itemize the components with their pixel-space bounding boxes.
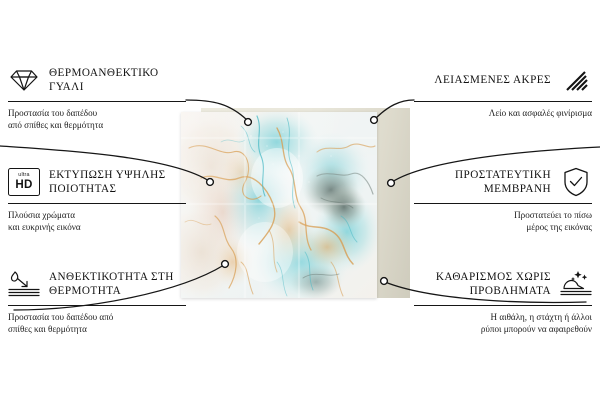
feature-header: ΛΕΙΑΣΜΕΝΕΣ ΑΚΡΕΣ [414,64,592,96]
feature-header: ΘΕΡΜΟΑΝΘΕΚΤΙΚΟ ΓΥΑΛΙ [8,64,186,96]
feature-heat-durability: ΑΝΘΕΚΤΙΚΟΤΗΤΑ ΣΤΗ ΘΕΡΜΟΤΗΤΑ Προστασία το… [8,268,186,335]
feature-title: ΚΑΘΑΡΙΣΜΟΣ ΧΩΡΙΣ ΠΡΟΒΛΗΜΑΤΑ [414,270,551,299]
product-image [181,110,410,300]
feature-header: ΠΡΟΣΤΑΤΕΥΤΙΚΗ ΜΕΜΒΡΑΝΗ [414,166,592,198]
feature-divider [414,101,592,102]
polished-edges-icon [560,65,592,95]
feature-description: Η αιθάλη, η στάχτη ή άλλοιρύποι μπορούν … [414,311,592,335]
feature-description: Πλούσια χρώματακαι ευκρινής εικόνα [8,209,186,233]
feature-divider [8,203,186,204]
feature-high-quality-print: ultra HD ΕΚΤΥΠΩΣΗ ΥΨΗΛΗΣ ΠΟΙΟΤΗΤΑΣ Πλούσ… [8,166,186,233]
diamond-icon [8,65,40,95]
feature-title: ΛΕΙΑΣΜΕΝΕΣ ΑΚΡΕΣ [414,73,551,88]
feature-title: ΘΕΡΜΟΑΝΘΕΚΤΙΚΟ ΓΥΑΛΙ [49,66,186,95]
feature-divider [8,305,186,306]
feature-divider [414,203,592,204]
feature-description: Προστασία του δαπέδου απόσπίθες και θερμ… [8,311,186,335]
feature-protective-membrane: ΠΡΟΣΤΑΤΕΥΤΙΚΗ ΜΕΜΒΡΑΝΗ Προστατεύει το πί… [414,166,592,233]
glass-panel-artwork [181,112,377,298]
feature-header: ΚΑΘΑΡΙΣΜΟΣ ΧΩΡΙΣ ΠΡΟΒΛΗΜΑΤΑ [414,268,592,300]
feature-polished-edges: ΛΕΙΑΣΜΕΝΕΣ ΑΚΡΕΣ Λείο και ασφαλές φινίρι… [414,64,592,119]
feature-easy-cleaning: ΚΑΘΑΡΙΣΜΟΣ ΧΩΡΙΣ ΠΡΟΒΛΗΜΑΤΑ Η αιθάλη, η … [414,268,592,335]
shield-check-icon [560,167,592,197]
feature-description: Προστατεύει το πίσωμέρος της εικόνας [414,209,592,233]
infographic-canvas: ΘΕΡΜΟΑΝΘΕΚΤΙΚΟ ΓΥΑΛΙ Προστασία του δαπέδ… [0,0,600,400]
feature-divider [414,305,592,306]
feature-description: Λείο και ασφαλές φινίρισμα [414,107,592,119]
marble-ink-artwork [181,112,377,298]
flame-deflect-icon [8,269,40,299]
feature-divider [8,101,186,102]
sparkle-wipe-icon [560,269,592,299]
feature-heat-resistant-glass: ΘΕΡΜΟΑΝΘΕΚΤΙΚΟ ΓΥΑΛΙ Προστασία του δαπέδ… [8,64,186,131]
ultra-hd-icon: ultra HD [8,167,40,197]
feature-header: ΑΝΘΕΚΤΙΚΟΤΗΤΑ ΣΤΗ ΘΕΡΜΟΤΗΤΑ [8,268,186,300]
feature-title: ΠΡΟΣΤΑΤΕΥΤΙΚΗ ΜΕΜΒΡΑΝΗ [414,168,551,197]
feature-description: Προστασία του δαπέδουαπό σπίθες και θερμ… [8,107,186,131]
ultra-hd-label-bottom: HD [15,179,32,191]
feature-title: ΑΝΘΕΚΤΙΚΟΤΗΤΑ ΣΤΗ ΘΕΡΜΟΤΗΤΑ [49,270,186,299]
feature-title: ΕΚΤΥΠΩΣΗ ΥΨΗΛΗΣ ΠΟΙΟΤΗΤΑΣ [49,168,186,197]
feature-header: ultra HD ΕΚΤΥΠΩΣΗ ΥΨΗΛΗΣ ΠΟΙΟΤΗΤΑΣ [8,166,186,198]
